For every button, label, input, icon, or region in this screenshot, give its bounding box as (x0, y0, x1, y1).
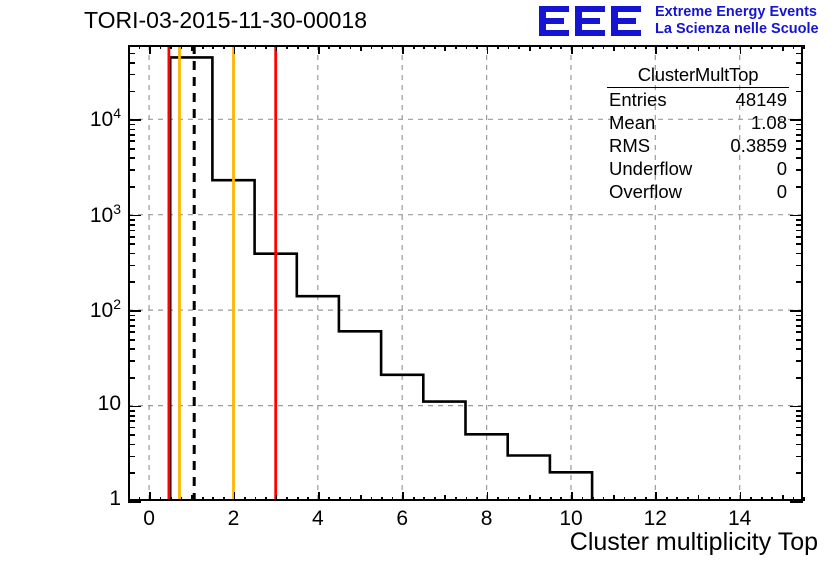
stats-row-label: Entries (609, 89, 667, 111)
x-axis-tick-top (381, 45, 383, 49)
y-axis-tick (128, 253, 135, 255)
x-axis-tick-top (286, 45, 288, 49)
x-axis-title: Cluster multiplicity Top (570, 528, 818, 557)
x-axis-tick-top (170, 45, 172, 49)
x-axis-tick-top (740, 45, 742, 54)
y-axis-tick-label: 1 (109, 487, 121, 511)
y-axis-tick-right (796, 243, 803, 245)
y-axis-tick-right (796, 360, 803, 362)
eee-logo-line1: Extreme Energy Events (655, 4, 819, 21)
y-axis-tick (128, 140, 135, 142)
y-axis-tick-right (796, 253, 803, 255)
x-axis-tick (360, 495, 362, 501)
x-axis-tick (149, 492, 151, 501)
y-axis-tick-right (796, 62, 803, 64)
x-axis-tick-top (297, 45, 299, 49)
x-axis-tick (170, 497, 172, 501)
x-axis-tick-top (223, 45, 225, 49)
x-axis-tick (202, 497, 204, 501)
x-axis-tick-top (487, 45, 489, 54)
y-axis-tick-right (796, 186, 803, 188)
x-axis-tick (687, 497, 689, 501)
x-axis-tick-top (793, 45, 795, 49)
y-axis-tick (128, 315, 135, 317)
x-axis-tick-top (645, 45, 647, 49)
x-axis-tick-top (476, 45, 478, 49)
x-axis-tick-top (560, 45, 562, 49)
y-axis-tick (128, 186, 135, 188)
x-axis-tick (476, 497, 478, 501)
y-axis-tick (128, 148, 135, 150)
x-axis-tick-top (466, 45, 468, 49)
x-axis-tick (634, 497, 636, 501)
x-axis-tick-top (191, 45, 193, 51)
stats-row-value: 0 (777, 158, 787, 180)
x-axis-tick (750, 497, 752, 501)
x-axis-tick (413, 497, 415, 501)
x-axis-tick (191, 495, 193, 501)
y-axis-tick (128, 243, 135, 245)
y-axis-tick (128, 360, 135, 362)
x-axis-tick-top (392, 45, 394, 49)
stats-row-label: Overflow (609, 181, 682, 203)
stats-row-value: 0.3859 (730, 135, 787, 157)
x-axis-tick-top (529, 45, 531, 51)
y-axis-tick-right (796, 169, 803, 171)
y-axis-tick-right (796, 456, 803, 458)
stats-row-value: 48149 (736, 89, 787, 111)
y-axis-tick-right (796, 91, 803, 93)
x-axis-tick-top (434, 45, 436, 49)
x-axis-tick-top (666, 45, 668, 49)
x-axis-tick (392, 497, 394, 501)
x-axis-tick (434, 497, 436, 501)
x-axis-tick-top (592, 45, 594, 49)
y-axis-tick (128, 124, 135, 126)
stats-rows: Entries 48149 Mean 1.08 RMS 0.3859 Under… (607, 88, 789, 203)
y-axis-tick (128, 169, 135, 171)
x-axis-tick-top (771, 45, 773, 49)
x-axis-tick-top (444, 45, 446, 51)
x-axis-tick-top (318, 45, 320, 54)
x-axis-tick-top (413, 45, 415, 49)
x-axis-tick-top (603, 45, 605, 49)
x-axis-tick (560, 497, 562, 501)
x-axis-tick-top (687, 45, 689, 49)
stats-title: ClusterMultTop (607, 64, 789, 88)
x-axis-tick (466, 497, 468, 501)
x-axis-tick (698, 495, 700, 501)
y-axis-tick (128, 53, 135, 55)
y-axis-tick-right (796, 45, 803, 47)
y-axis-tick-right (796, 230, 803, 232)
x-axis-tick (771, 497, 773, 501)
y-axis-tick (128, 119, 141, 121)
x-axis-tick-top (244, 45, 246, 49)
y-axis-tick-right (796, 427, 803, 429)
x-axis-tick-top (508, 45, 510, 49)
x-axis-tick (444, 495, 446, 501)
y-axis-tick-right (790, 119, 803, 121)
x-axis-tick-top (212, 45, 214, 49)
page-title: TORI-03-2015-11-30-00018 (84, 7, 367, 34)
x-axis-tick (729, 497, 731, 501)
x-axis-tick-top (455, 45, 457, 49)
y-axis-tick-label: 102 (90, 296, 121, 323)
x-axis-tick-top (234, 45, 236, 54)
x-axis-tick (803, 497, 805, 501)
x-axis-tick (276, 495, 278, 501)
stats-row: RMS 0.3859 (607, 134, 789, 157)
x-axis-tick (371, 497, 373, 501)
y-axis-tick-right (796, 410, 803, 412)
x-axis-tick-top (676, 45, 678, 49)
y-axis-tick-right (790, 310, 803, 312)
x-axis-tick (518, 497, 520, 501)
x-axis-tick (265, 497, 267, 501)
y-axis-tick (128, 129, 135, 131)
y-axis-tick (128, 265, 135, 267)
x-axis-tick (318, 492, 320, 501)
y-axis-tick (128, 224, 135, 226)
x-axis-tick-top (550, 45, 552, 49)
x-axis-tick (603, 497, 605, 501)
y-axis-tick-right (796, 281, 803, 283)
x-axis-tick (592, 497, 594, 501)
y-axis-tick-right (790, 406, 803, 408)
x-axis-tick-top (360, 45, 362, 51)
y-axis-tick (128, 427, 135, 429)
x-axis-tick (350, 497, 352, 501)
y-axis-tick (128, 134, 135, 136)
x-axis-tick-top (708, 45, 710, 49)
x-axis-tick-top (582, 45, 584, 49)
x-axis-tick-top (265, 45, 267, 49)
stats-row-value: 1.08 (751, 112, 787, 134)
stats-box: ClusterMultTop Entries 48149 Mean 1.08 R… (607, 64, 789, 199)
y-axis-tick-right (796, 157, 803, 159)
y-axis-tick (128, 434, 135, 436)
stats-row-label: Mean (609, 112, 655, 134)
y-axis-tick-right (796, 315, 803, 317)
x-axis-tick-top (719, 45, 721, 49)
x-axis-tick (286, 497, 288, 501)
y-axis-tick (128, 62, 135, 64)
y-axis-tick-right (796, 472, 803, 474)
y-axis-tick-right (796, 377, 803, 379)
y-axis-tick (128, 236, 135, 238)
y-axis-tick-right (796, 129, 803, 131)
x-axis-tick-top (371, 45, 373, 49)
x-axis-tick (645, 497, 647, 501)
y-axis-tick (128, 219, 135, 221)
stats-row: Overflow 0 (607, 180, 789, 203)
x-axis-tick-top (402, 45, 404, 54)
x-axis-tick (339, 497, 341, 501)
x-axis-tick (181, 497, 183, 501)
y-axis-tick-right (796, 331, 803, 333)
x-axis-tick (234, 492, 236, 501)
x-axis-tick-label: 0 (143, 507, 155, 531)
y-axis-tick-right (796, 53, 803, 55)
y-axis-tick-right (796, 134, 803, 136)
y-axis-tick (128, 45, 135, 47)
stats-row: Entries 48149 (607, 88, 789, 111)
x-axis-tick-top (339, 45, 341, 49)
x-axis-tick-top (782, 45, 784, 51)
x-axis-tick (297, 497, 299, 501)
x-axis-tick (761, 497, 763, 501)
y-axis-tick-right (796, 415, 803, 417)
x-axis-tick (740, 492, 742, 501)
x-axis-tick (381, 497, 383, 501)
y-axis-tick-right (796, 434, 803, 436)
x-axis-tick (529, 495, 531, 501)
x-axis-tick-top (255, 45, 257, 49)
y-axis-tick-right (796, 444, 803, 446)
y-axis-tick (128, 348, 135, 350)
y-axis-tick (128, 377, 135, 379)
x-axis-tick (244, 497, 246, 501)
y-axis-tick (128, 420, 135, 422)
x-axis-tick-top (750, 45, 752, 49)
x-axis-tick-top (761, 45, 763, 49)
x-axis-tick-top (539, 45, 541, 49)
x-axis-tick-top (624, 45, 626, 49)
y-axis-tick-right (790, 215, 803, 217)
y-axis-tick (128, 157, 135, 159)
y-axis-tick-right (796, 339, 803, 341)
x-axis-tick-top (518, 45, 520, 49)
y-axis-tick-label: 10 (98, 392, 121, 416)
x-axis-tick-top (139, 45, 141, 49)
y-axis-tick (128, 325, 135, 327)
x-axis-tick-top (276, 45, 278, 51)
x-axis-tick-top (729, 45, 731, 49)
stats-row: Mean 1.08 (607, 111, 789, 134)
y-axis-tick-right (796, 420, 803, 422)
x-axis-tick-top (181, 45, 183, 49)
y-axis-tick (128, 456, 135, 458)
y-axis-tick (128, 339, 135, 341)
y-axis-tick (128, 91, 135, 93)
x-axis-tick (455, 497, 457, 501)
x-axis-tick (212, 497, 214, 501)
x-axis-tick (255, 497, 257, 501)
y-axis-tick-right (796, 224, 803, 226)
x-axis-tick-top (655, 45, 657, 54)
y-axis-tick-right (796, 236, 803, 238)
x-axis-tick (550, 497, 552, 501)
y-axis-tick (128, 74, 135, 76)
y-axis-tick (128, 310, 141, 312)
y-axis-tick (128, 319, 135, 321)
x-axis-tick-top (613, 45, 615, 51)
x-axis-tick (582, 497, 584, 501)
x-axis-tick (423, 497, 425, 501)
eee-logo-text: Extreme Energy Events La Scienza nelle S… (655, 4, 819, 38)
x-axis-tick (328, 497, 330, 501)
x-axis-tick-top (307, 45, 309, 49)
x-axis-tick-top (698, 45, 700, 51)
x-axis-tick (487, 492, 489, 501)
x-axis-tick (676, 497, 678, 501)
x-axis-tick-label: 4 (312, 507, 324, 531)
y-axis-tick (128, 415, 135, 417)
y-axis-tick-right (796, 148, 803, 150)
x-axis-tick (782, 495, 784, 501)
x-axis-tick-top (571, 45, 573, 54)
x-axis-tick (160, 497, 162, 501)
x-axis-tick-top (160, 45, 162, 49)
stats-row: Underflow 0 (607, 157, 789, 180)
y-axis-tick-right (796, 265, 803, 267)
y-axis-tick (128, 230, 135, 232)
x-axis-tick (307, 497, 309, 501)
y-axis-tick-right (796, 319, 803, 321)
y-axis-tick-right (796, 74, 803, 76)
x-axis-tick (223, 497, 225, 501)
x-axis-tick (613, 495, 615, 501)
y-axis-tick-right (796, 325, 803, 327)
x-axis-tick-top (350, 45, 352, 49)
x-axis-tick (571, 492, 573, 501)
x-axis-tick (402, 492, 404, 501)
y-axis-tick (128, 501, 141, 503)
y-axis-tick-right (796, 348, 803, 350)
y-axis-tick-label: 103 (90, 201, 121, 228)
x-axis-tick-top (328, 45, 330, 49)
y-axis-tick (128, 406, 141, 408)
x-axis-tick (497, 497, 499, 501)
x-axis-tick (624, 497, 626, 501)
x-axis-tick-top (497, 45, 499, 49)
x-axis-tick (655, 492, 657, 501)
y-axis-tick (128, 444, 135, 446)
x-axis-tick-top (149, 45, 151, 54)
x-axis-tick-label: 8 (481, 507, 493, 531)
y-axis-tick-right (790, 501, 803, 503)
x-axis-tick (719, 497, 721, 501)
stats-row-label: Underflow (609, 158, 692, 180)
x-axis-tick-label: 2 (228, 507, 240, 531)
root-canvas: TORI-03-2015-11-30-00018 Extreme Energy … (0, 0, 836, 572)
y-axis-tick-label: 104 (90, 105, 121, 132)
stats-row-value: 0 (777, 181, 787, 203)
y-axis-tick (128, 331, 135, 333)
x-axis-tick (508, 497, 510, 501)
y-axis-tick (128, 215, 141, 217)
y-axis-tick (128, 472, 135, 474)
x-axis-tick-label: 6 (396, 507, 408, 531)
x-axis-tick-top (803, 45, 805, 49)
y-axis-tick-right (796, 140, 803, 142)
x-axis-tick-top (202, 45, 204, 49)
eee-logo: Extreme Energy Events La Scienza nelle S… (537, 2, 833, 42)
eee-logo-line2: La Scienza nelle Scuole (655, 21, 819, 38)
x-axis-tick-top (634, 45, 636, 49)
x-axis-tick (539, 497, 541, 501)
y-axis-tick-right (796, 124, 803, 126)
x-axis-tick-top (423, 45, 425, 49)
stats-row-label: RMS (609, 135, 650, 157)
x-axis-tick (708, 497, 710, 501)
x-axis-tick (666, 497, 668, 501)
y-axis-tick (128, 410, 135, 412)
eee-logo-icon (537, 4, 647, 38)
y-axis-tick (128, 281, 135, 283)
y-axis-tick-right (796, 219, 803, 221)
